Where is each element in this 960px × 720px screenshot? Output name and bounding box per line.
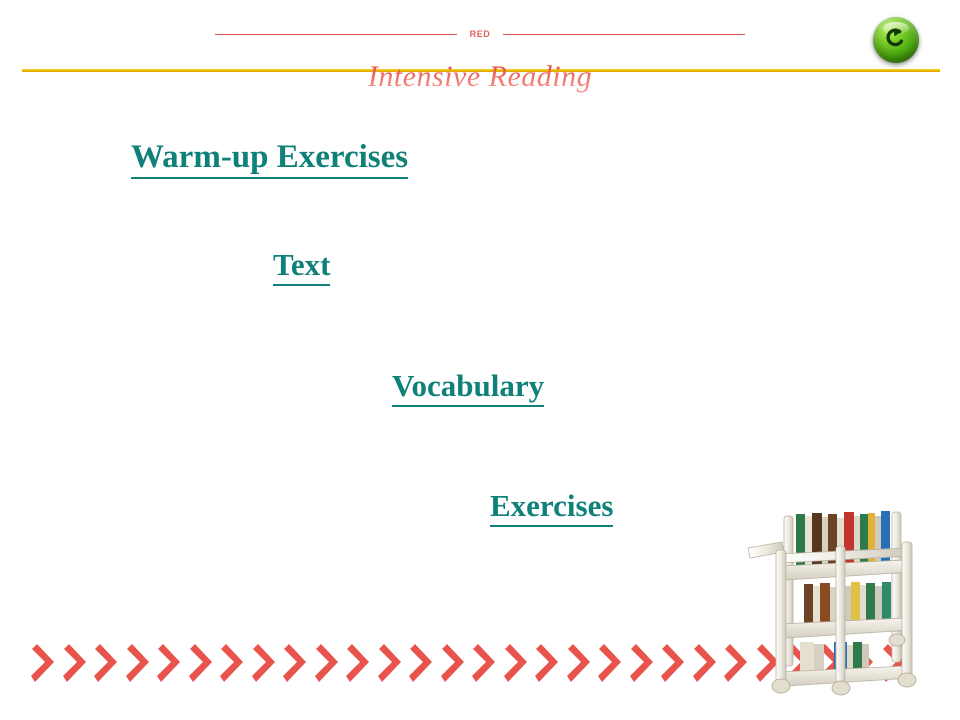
menu-link-warm-up-exercises[interactable]: Warm-up Exercises bbox=[131, 140, 408, 179]
chevron-icon bbox=[62, 642, 94, 684]
header-label: RED bbox=[457, 30, 504, 39]
chevron-icon bbox=[440, 642, 472, 684]
chevron-icon bbox=[503, 642, 535, 684]
chevron-icon bbox=[188, 642, 220, 684]
chevron-icon bbox=[377, 642, 409, 684]
chevron-icon bbox=[597, 642, 629, 684]
chevron-icon bbox=[692, 642, 724, 684]
chevron-icon bbox=[345, 642, 377, 684]
menu-link-exercises[interactable]: Exercises bbox=[490, 490, 613, 527]
menu-link-text[interactable]: Text bbox=[273, 249, 330, 286]
page-title: Intensive Reading bbox=[0, 60, 960, 94]
chevron-icon bbox=[219, 642, 251, 684]
chevron-icon bbox=[629, 642, 661, 684]
chevron-icon bbox=[251, 642, 283, 684]
chevron-icon bbox=[156, 642, 188, 684]
book-cart-icon bbox=[740, 492, 925, 697]
chevron-icon bbox=[408, 642, 440, 684]
header-rule-left bbox=[215, 34, 457, 35]
header-rule-right bbox=[503, 34, 745, 35]
chevron-icon bbox=[660, 642, 692, 684]
slide-canvas: RED Intensive Reading Warm-up Exercises … bbox=[0, 0, 960, 720]
return-button[interactable] bbox=[873, 17, 919, 63]
chevron-icon bbox=[125, 642, 157, 684]
chevron-icon bbox=[314, 642, 346, 684]
chevron-icon bbox=[30, 642, 62, 684]
chevron-icon bbox=[566, 642, 598, 684]
menu-link-vocabulary[interactable]: Vocabulary bbox=[392, 370, 544, 407]
chevron-icon bbox=[534, 642, 566, 684]
chevron-icon bbox=[93, 642, 125, 684]
header-rule: RED bbox=[215, 24, 745, 44]
return-arrow-icon bbox=[884, 26, 908, 55]
chevron-icon bbox=[282, 642, 314, 684]
chevron-icon bbox=[471, 642, 503, 684]
